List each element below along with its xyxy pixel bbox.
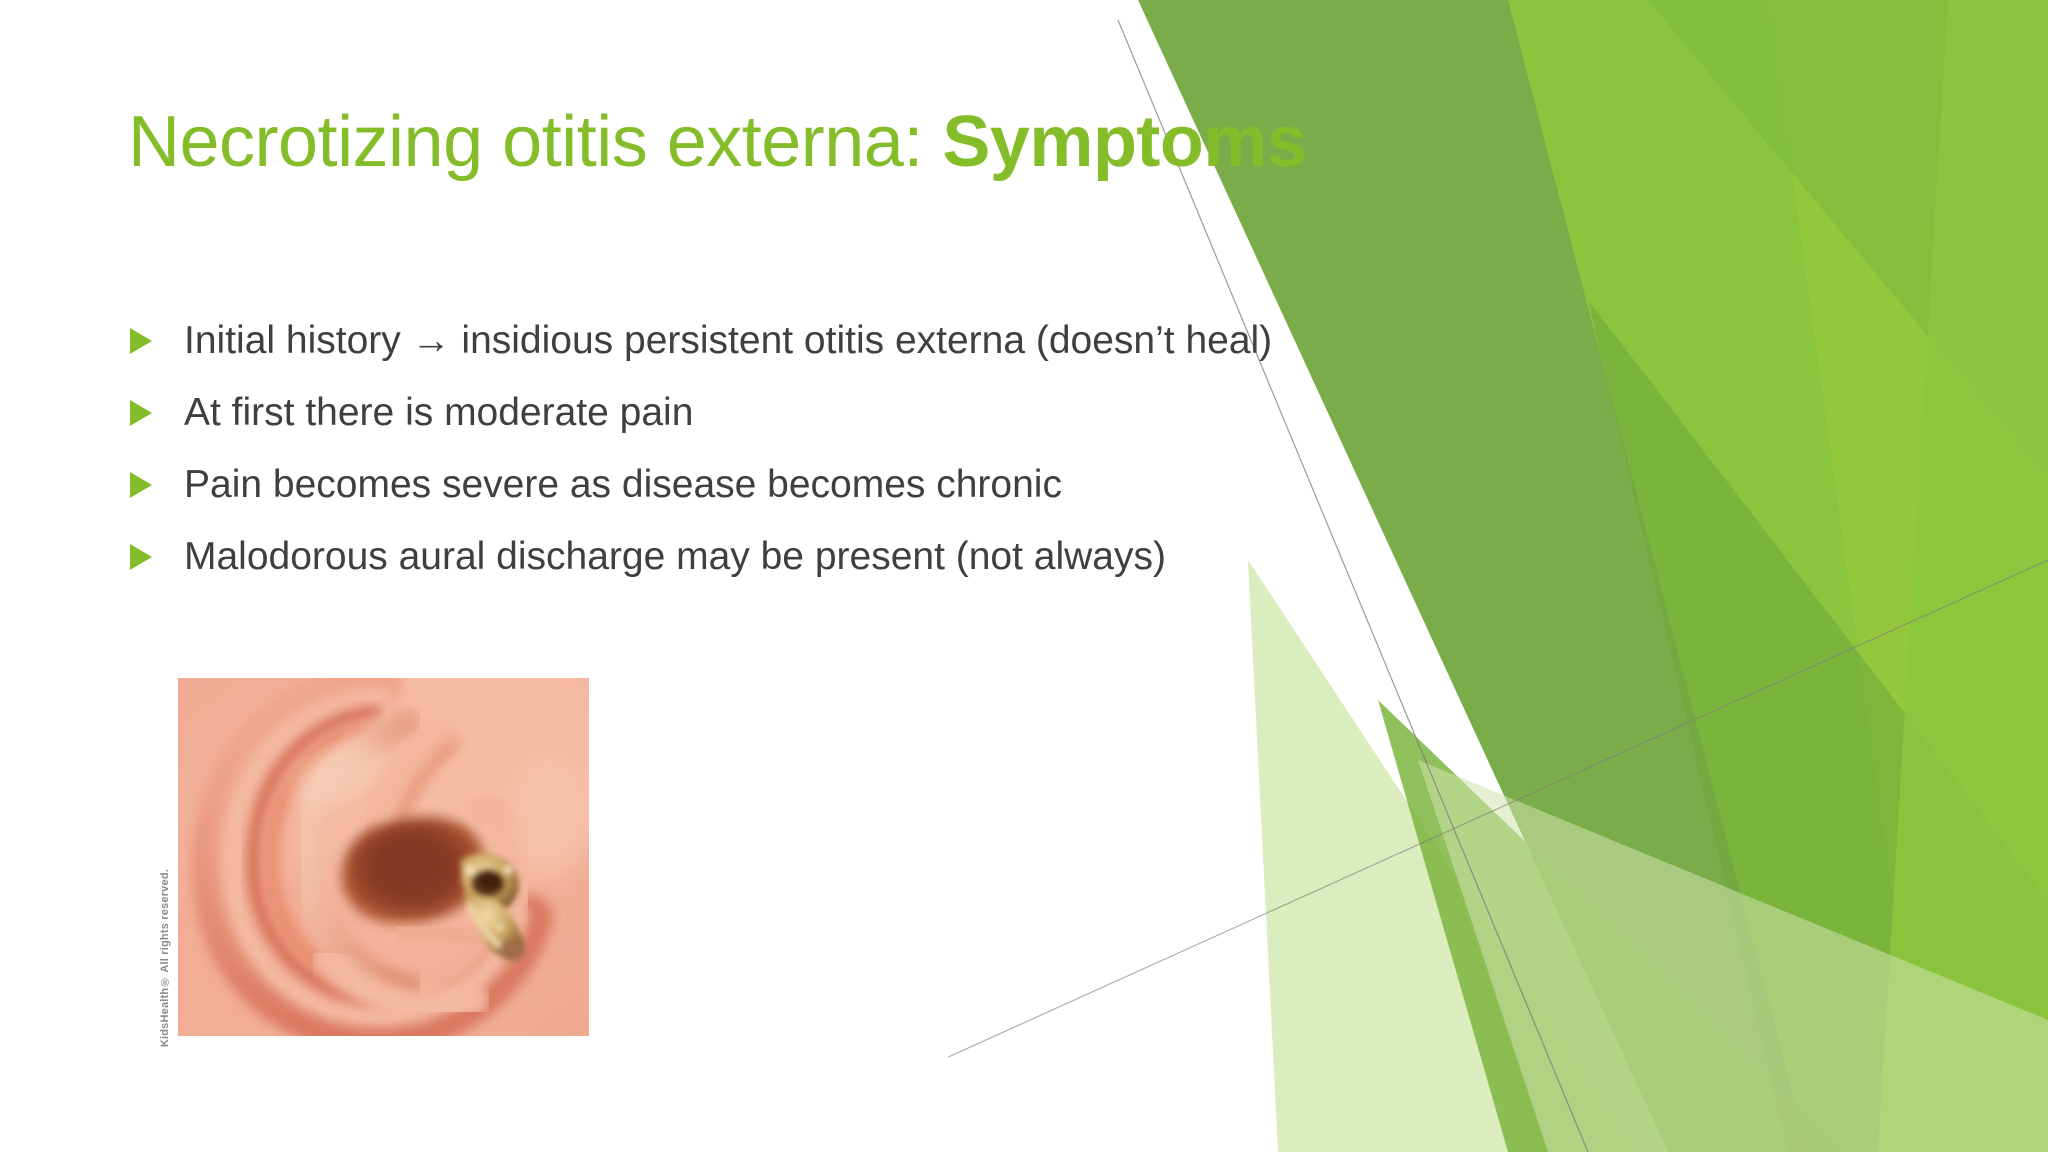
list-item: Initial history → insidious persistent o… xyxy=(128,305,1528,377)
list-item: Malodorous aural discharge may be presen… xyxy=(128,521,1528,593)
bullet-list: Initial history → insidious persistent o… xyxy=(128,305,1528,593)
presentation-slide: Necrotizing otitis externa: Symptoms Ini… xyxy=(0,0,2048,1152)
list-item-label: Pain becomes severe as disease becomes c… xyxy=(184,449,1528,521)
list-item-label: Malodorous aural discharge may be presen… xyxy=(184,521,1528,593)
page-title: Necrotizing otitis externa: Symptoms xyxy=(128,96,1528,188)
triangle-bullet-icon xyxy=(128,449,158,521)
photo-watermark-label: KidsHealth® All rights reserved. xyxy=(159,865,171,1047)
triangle-bullet-icon xyxy=(128,377,158,449)
triangle-bullet-icon xyxy=(128,521,158,593)
title-normal-text: Necrotizing otitis externa: xyxy=(128,102,942,182)
ear-illustration-image xyxy=(178,678,589,1036)
photo-watermark: KidsHealth® All rights reserved. xyxy=(152,664,178,1047)
triangle-bullet-icon xyxy=(128,305,158,377)
ear-photo: KidsHealth® All rights reserved. xyxy=(152,664,589,1047)
list-item-label: At first there is moderate pain xyxy=(184,377,1528,449)
list-item: At first there is moderate pain xyxy=(128,377,1528,449)
title-bold-text: Symptoms xyxy=(942,102,1306,182)
slide-title: Necrotizing otitis externa: Symptoms xyxy=(128,96,1528,188)
list-item-label: Initial history → insidious persistent o… xyxy=(184,305,1528,377)
list-item: Pain becomes severe as disease becomes c… xyxy=(128,449,1528,521)
